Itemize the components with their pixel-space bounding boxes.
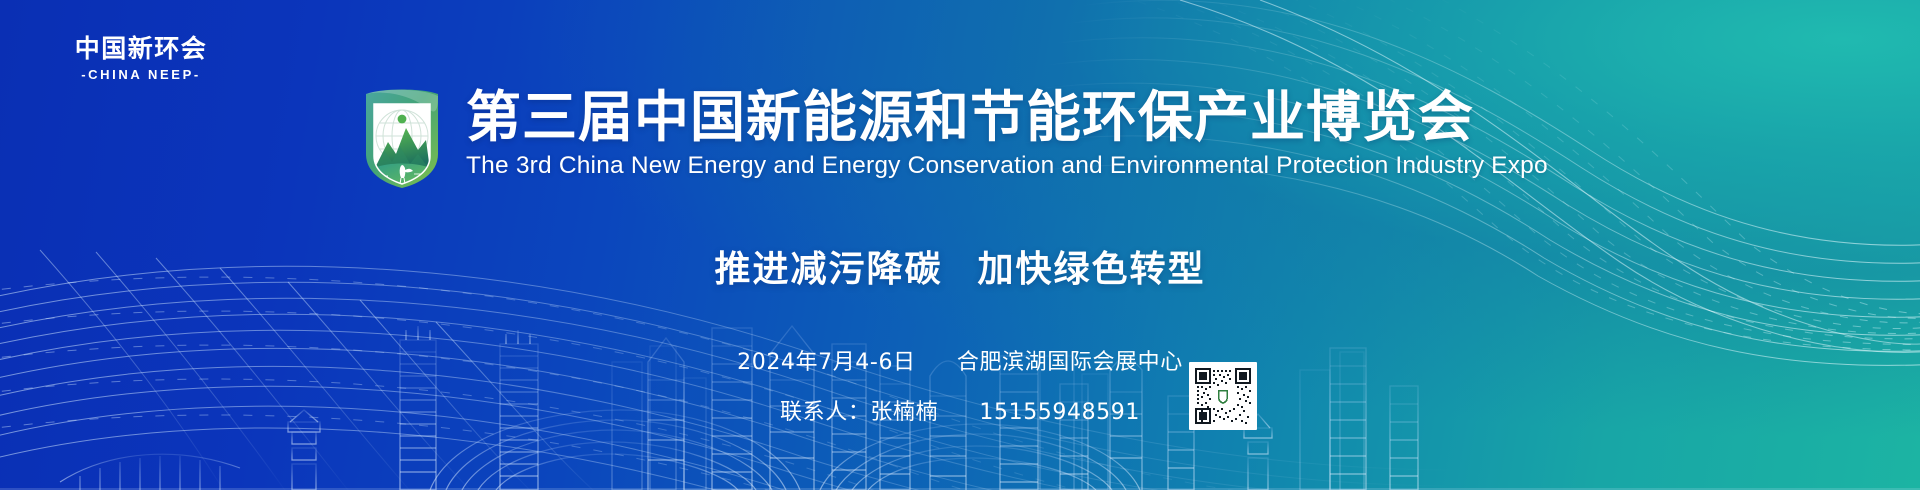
- slogan-block: 推进减污降碳 加快绿色转型: [0, 240, 1920, 292]
- headline-block: 第三届中国新能源和节能环保产业博览会 The 3rd China New Ene…: [360, 82, 1548, 190]
- expo-shield-emblem-icon: [360, 84, 444, 190]
- organizer-logo-cn: 中国新环会: [46, 36, 236, 61]
- event-date: 2024年7月4-6日: [737, 350, 916, 375]
- organizer-logo: 中国新环会 -CHINA NEEP-: [46, 36, 236, 81]
- event-venue: 合肥滨湖国际会展中心: [957, 350, 1183, 375]
- organizer-logo-en: -CHINA NEEP-: [46, 68, 236, 81]
- contact-phone: 15155948591: [979, 400, 1140, 425]
- expo-banner: 中国新环会 -CHINA NEEP-: [0, 0, 1920, 490]
- title-group: 第三届中国新能源和节能环保产业博览会 The 3rd China New Ene…: [466, 82, 1548, 180]
- slogan-part-1: 推进减污降碳: [715, 249, 943, 290]
- page-title: 第三届中国新能源和节能环保产业博览会: [466, 88, 1548, 146]
- contact-line: 联系人：张楠楠 15155948591: [0, 402, 1920, 424]
- event-date-venue-line: 2024年7月4-6日 合肥滨湖国际会展中心: [0, 352, 1920, 374]
- date-venue-spacer: [923, 352, 949, 374]
- qr-code[interactable]: [1189, 362, 1257, 430]
- page-subtitle-en: The 3rd China New Energy and Energy Cons…: [466, 153, 1548, 180]
- event-info-block: 2024年7月4-6日 合肥滨湖国际会展中心 联系人：张楠楠 151559485…: [0, 352, 1920, 424]
- slogan-spacer: [947, 249, 973, 290]
- slogan-part-2: 加快绿色转型: [977, 249, 1205, 290]
- contact-spacer: [946, 402, 972, 424]
- contact-name: 联系人：张楠楠: [780, 400, 938, 425]
